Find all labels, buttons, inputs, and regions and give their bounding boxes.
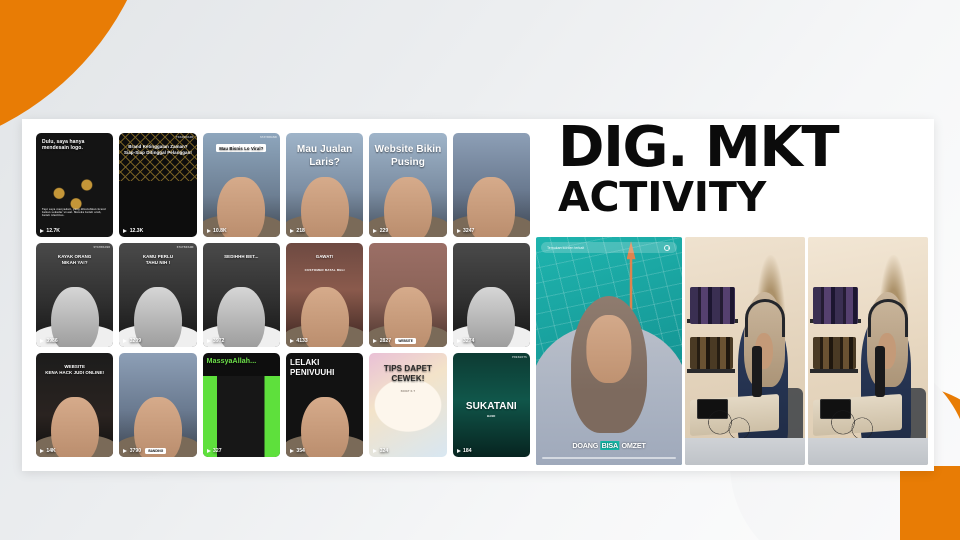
view-count-value: 2827 (380, 338, 391, 344)
play-icon (457, 229, 461, 233)
play-icon (207, 229, 211, 233)
video-thumbnail[interactable]: MassyaAllah...327 (203, 353, 280, 457)
search-icon[interactable] (664, 245, 670, 251)
microphone (875, 346, 885, 396)
view-count-value: 12.7K (46, 228, 60, 234)
play-icon (457, 449, 461, 453)
shelf-lower (810, 369, 858, 373)
thumbnail-subtitle: Tapi saya menyadari, yang dibutuhkan bra… (36, 208, 113, 218)
thumbnail-badge: WEBSITE (395, 338, 416, 344)
play-icon (123, 229, 127, 233)
product-bottles-upper (690, 287, 736, 323)
view-count-value: 4133 (296, 338, 307, 344)
view-count: 14K (40, 448, 56, 454)
play-icon (373, 449, 377, 453)
view-count: 3274 (457, 338, 475, 344)
thumbnail-title: KAYAK ORANGNIKAH YA!? (36, 254, 113, 265)
play-icon (40, 449, 44, 453)
product-bottles-lower (813, 337, 856, 369)
thumbnail-title: Dulu, saya hanyamendesain logo. (36, 139, 113, 152)
thumbnail-subtitle: BAND (453, 415, 530, 418)
thumbnail-title: Website BikinPusing (369, 144, 446, 169)
view-count: 3209 (123, 338, 141, 344)
video-thumbnail[interactable]: WEBSITE2827 (369, 243, 446, 347)
video-thumbnail[interactable]: Mau Bisnis Lo Viral?STAYBRAND10.8K (203, 133, 280, 237)
person-face (467, 287, 515, 347)
play-icon (40, 339, 44, 343)
view-count: 218 (290, 228, 305, 234)
thumbnail-title-line1: GAWAT! (290, 254, 359, 260)
face-shape (586, 315, 631, 383)
view-count: 327 (207, 448, 222, 454)
caption-word: DOANG (571, 441, 599, 450)
video-caption: DOANGBISAOMZET (571, 441, 646, 450)
video-thumbnail[interactable]: 3274 (453, 243, 530, 347)
search-bar[interactable]: Temukan konten terkait (541, 242, 677, 253)
view-count: 354 (290, 448, 305, 454)
thumbnail-title-line1: LELAKI (290, 358, 359, 368)
thumbnail-title-line1: Mau Jualan (290, 144, 359, 157)
thumbnail-backdrop (203, 376, 280, 457)
view-count: 324 (373, 448, 388, 454)
floor (808, 438, 928, 465)
play-icon (207, 449, 211, 453)
view-count-value: 324 (380, 448, 389, 454)
channel-watermark: PRESENTS (512, 356, 527, 359)
thumbnail-title: WEBSITEKENA HACK JUDI ONLINE! (36, 364, 113, 375)
play-icon (123, 449, 127, 453)
play-icon (40, 229, 44, 233)
thumbnail-title-line1: Website Bikin (373, 144, 442, 157)
view-count: 3972 (207, 338, 225, 344)
video-thumbnail[interactable]: SEDIHHH BET...3972 (203, 243, 280, 347)
channel-watermark: STAYBRAND (93, 246, 110, 249)
thumbnail-title: LELAKIPENIVUUHI (286, 358, 363, 378)
video-thumbnail[interactable]: TIPS DAPETCEWEK!PAKET K-T324 (369, 353, 446, 457)
search-placeholder-text: Temukan konten terkait (547, 246, 584, 250)
photo-studio-left (685, 237, 805, 465)
view-count: 3790 (123, 448, 141, 454)
thumbnail-title: SUKATANI (453, 401, 530, 414)
thumbnail-title: Brand Ketinggalan Zaman? Siap-Siap Ditin… (119, 144, 196, 155)
view-count-value: 12.3K (130, 228, 144, 234)
view-count-value: 14K (46, 448, 55, 454)
thumbnail-title-line2: Pusing (373, 157, 442, 170)
view-count-value: 3986 (46, 338, 57, 344)
view-count-value: 354 (296, 448, 305, 454)
thumbnail-title: Mau JualanLaris? (286, 144, 363, 169)
video-thumbnail[interactable]: Dulu, saya hanyamendesain logo.Tapi saya… (36, 133, 113, 237)
thumbnail-title-line1: MassyaAllah... (207, 358, 276, 367)
view-count: 3986 (40, 338, 58, 344)
view-count-value: 229 (380, 228, 389, 234)
thumbnail-title: MassyaAllah... (203, 358, 280, 367)
video-thumbnail[interactable]: SUKATANIBANDPRESENTS184 (453, 353, 530, 457)
thumbnail-subtitle: PAKET K-T (369, 390, 446, 393)
orange-corner-tab (900, 466, 960, 540)
video-thumbnail[interactable]: Brand Ketinggalan Zaman? Siap-Siap Ditin… (119, 133, 196, 237)
view-count: 229 (373, 228, 388, 234)
play-icon (373, 339, 377, 343)
thumbnail-title-line2: CEWEK! (373, 374, 442, 384)
headline-zone: DIG. MKT ACTIVITY (530, 119, 934, 237)
person-face (301, 177, 349, 237)
view-count-value: 184 (463, 448, 472, 454)
person-face (134, 287, 182, 347)
channel-watermark: STAYBRAND (177, 246, 194, 249)
view-count: 10.8K (207, 228, 227, 234)
play-icon (123, 339, 127, 343)
thumbnail-grid-area: Dulu, saya hanyamendesain logo.Tapi saya… (22, 119, 530, 471)
floor (685, 438, 805, 465)
microphone (752, 346, 762, 396)
page-subtitle: ACTIVITY (558, 177, 934, 218)
view-count-value: 3209 (130, 338, 141, 344)
video-thumbnail[interactable]: Website BikinPusing229 (369, 133, 446, 237)
play-icon (457, 339, 461, 343)
thumbnail-title-line2: TAHU NIH ! (123, 260, 192, 266)
thumbnail-title-line2: mendesain logo. (42, 145, 109, 151)
thumbnail-badge: BANDING (145, 448, 166, 454)
person-face (301, 397, 349, 457)
view-count-value: 3972 (213, 338, 224, 344)
thumbnail-title-line1: TIPS DAPET (373, 364, 442, 374)
photo-studio-right (808, 237, 928, 465)
view-count-value: 218 (296, 228, 305, 234)
video-thumbnail[interactable]: GAWAT!CUSTOMER BATAL BELI4133 (286, 243, 363, 347)
view-count-value: 3247 (463, 228, 474, 234)
view-count: 12.7K (40, 228, 60, 234)
caption-word: BISA (601, 441, 619, 450)
thumbnail-title: GAWAT! (286, 254, 363, 260)
video-thumbnail[interactable]: Mau JualanLaris?218 (286, 133, 363, 237)
video-progress-bar[interactable] (542, 457, 676, 459)
thumbnail-title-line1: SUKATANI (457, 401, 526, 414)
person-face (384, 177, 432, 237)
video-thumbnail[interactable]: WEBSITEKENA HACK JUDI ONLINE!14K (36, 353, 113, 457)
headphones (745, 299, 785, 338)
play-icon (290, 229, 294, 233)
caption-word: OMZET (620, 441, 646, 450)
thumbnail-title-line2: NIKAH YA!? (40, 260, 109, 266)
thumbnail-title: TIPS DAPETCEWEK! (369, 364, 446, 384)
view-count-value: 327 (213, 448, 222, 454)
view-count: 3247 (457, 228, 475, 234)
thumbnail-title-line2: PENIVUUHI (290, 368, 359, 378)
video-thumbnail[interactable]: LELAKIPENIVUUHI354 (286, 353, 363, 457)
thumbnail-title: Mau Bisnis Lo Viral? (203, 144, 280, 152)
view-count: 4133 (290, 338, 308, 344)
view-count: 2827 (373, 338, 391, 344)
view-count: 184 (457, 448, 472, 454)
play-icon (290, 339, 294, 343)
thumbnail-title-line1: SEDIHHH BET... (207, 254, 276, 260)
thumbnail-grid: Dulu, saya hanyamendesain logo.Tapi saya… (36, 133, 530, 457)
thumbnail-title-line2: KENA HACK JUDI ONLINE! (40, 370, 109, 376)
photo-row: Temukan konten terkait DOANGBISAOMZET (530, 237, 934, 471)
thumbnail-title: SEDIHHH BET... (203, 254, 280, 260)
right-column: DIG. MKT ACTIVITY Temukan konten terkait… (530, 119, 934, 471)
thumbnail-subtitle: CUSTOMER BATAL BELI (286, 269, 363, 273)
view-count-value: 10.8K (213, 228, 227, 234)
video-thumbnail[interactable]: BANDING3790 (119, 353, 196, 457)
play-icon (207, 339, 211, 343)
product-bottles-lower (690, 337, 733, 369)
page-title: DIG. MKT (558, 121, 934, 175)
view-count: 12.3K (123, 228, 143, 234)
channel-watermark: STAYBRAND (260, 136, 277, 139)
thumbnail-title: KAMU PERLUTAHU NIH ! (119, 254, 196, 265)
person-face (217, 287, 265, 347)
play-icon (373, 229, 377, 233)
view-count-value: 3790 (130, 448, 141, 454)
view-count-value: 3274 (463, 338, 474, 344)
video-thumbnail[interactable]: KAYAK ORANGNIKAH YA!?STAYBRAND3986 (36, 243, 113, 347)
person-face (467, 177, 515, 237)
product-bottles-upper (813, 287, 859, 323)
channel-watermark: TRADEMARK (176, 136, 194, 139)
person-face (51, 397, 99, 457)
thumbnail-title-badge: Mau Bisnis Lo Viral? (216, 144, 266, 152)
photo-tiktok-video: Temukan konten terkait DOANGBISAOMZET (536, 237, 682, 465)
headphones (868, 299, 908, 338)
thumbnail-backdrop (119, 133, 196, 181)
video-thumbnail[interactable]: KAMU PERLUTAHU NIH !STAYBRAND3209 (119, 243, 196, 347)
thumbnail-title-line2: Laris? (290, 157, 359, 170)
video-thumbnail[interactable]: 3247 (453, 133, 530, 237)
thumbnail-title-line1: Brand Ketinggalan Zaman? Siap-Siap Ditin… (123, 144, 192, 155)
play-icon (290, 449, 294, 453)
content-panel: Dulu, saya hanyamendesain logo.Tapi saya… (22, 119, 934, 471)
shelf-lower (687, 369, 735, 373)
